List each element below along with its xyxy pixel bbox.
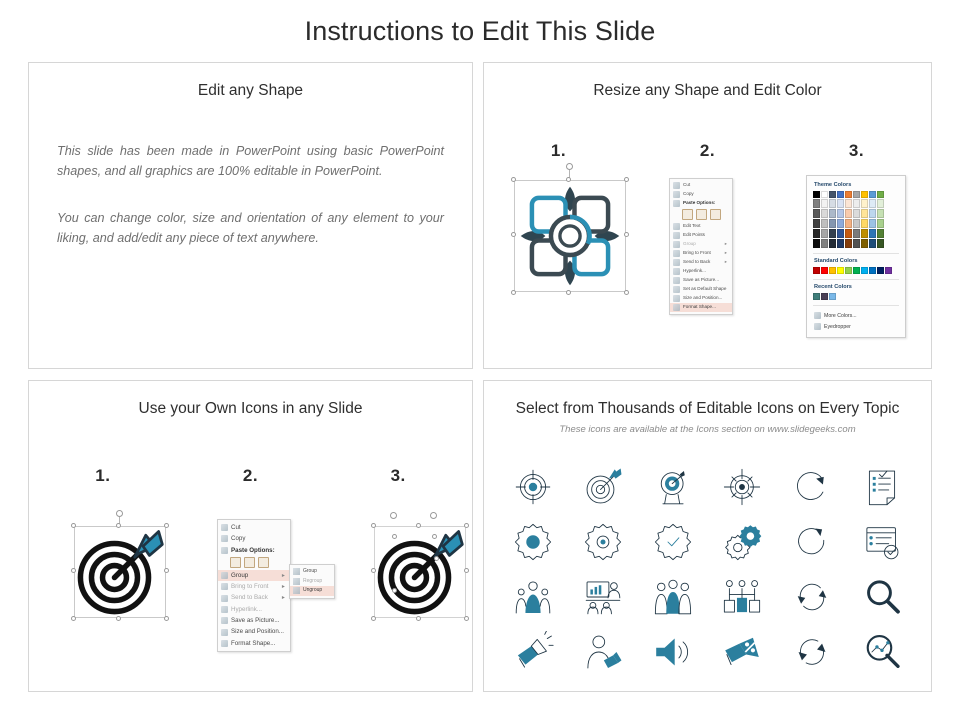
- chevron-right-icon: ▸: [276, 571, 285, 580]
- size-position-icon: [221, 629, 228, 636]
- context-menu-item-label: Send to Back: [683, 259, 710, 266]
- reload-circle-icon[interactable]: [791, 521, 833, 563]
- context-menu[interactable]: CutCopyPaste Options:Edit TextEdit Point…: [669, 178, 733, 315]
- theme-tint-row-3: [813, 229, 899, 238]
- step-resize-3: 3.: [782, 141, 931, 161]
- context-menu-item-label: Paste Options:: [231, 546, 275, 555]
- gear-outline-icon[interactable]: [582, 521, 624, 563]
- eyedropper-icon: [814, 323, 821, 330]
- color-swatch[interactable]: [861, 229, 868, 238]
- page-title: Instructions to Edit This Slide: [0, 16, 960, 47]
- gears-pair-icon[interactable]: [721, 521, 763, 563]
- context-menu-item[interactable]: Size and Position...: [670, 294, 732, 303]
- color-swatch[interactable]: [845, 191, 852, 198]
- color-swatch[interactable]: [829, 219, 836, 228]
- sync-arrows-icon[interactable]: [791, 576, 833, 618]
- color-swatch[interactable]: [869, 267, 876, 274]
- color-swatch[interactable]: [861, 239, 868, 248]
- context-menu-item[interactable]: Copy: [670, 190, 732, 199]
- step-number: 1.: [484, 141, 633, 161]
- context-menu-item[interactable]: Save as Picture...: [670, 276, 732, 285]
- icon-context-menu[interactable]: CutCopyPaste Options:Group▸Bring to Fron…: [217, 519, 291, 652]
- context-menu-item[interactable]: Copy: [218, 533, 290, 544]
- presentation-audience-icon[interactable]: [582, 576, 624, 618]
- color-swatch[interactable]: [813, 229, 820, 238]
- theme-tint-row-1: [813, 209, 899, 218]
- slide-canvas: Instructions to Edit This Slide Edit any…: [0, 0, 960, 720]
- panel-use-own-icons: Use your Own Icons in any Slide 1. 2. 3.: [28, 380, 473, 692]
- color-swatch[interactable]: [829, 191, 836, 198]
- color-swatch[interactable]: [861, 219, 868, 228]
- context-menu-item-label: Save as Picture...: [231, 616, 280, 625]
- context-menu-item-label: Bring to Front: [231, 582, 269, 591]
- panel-select-icons: Select from Thousands of Editable Icons …: [483, 380, 932, 692]
- send-back-icon: [221, 595, 228, 602]
- crosshair-scope-icon[interactable]: [721, 466, 763, 508]
- color-swatch[interactable]: [813, 219, 820, 228]
- theme-tint-row-4: [813, 239, 899, 248]
- step-icons-2: 2.: [177, 466, 325, 486]
- context-menu-item[interactable]: Cut: [670, 181, 732, 190]
- more-colors-item[interactable]: More Colors...: [813, 310, 899, 321]
- color-swatch[interactable]: [877, 199, 884, 208]
- paste-icon: [221, 547, 228, 554]
- checklist-document-icon[interactable]: [861, 466, 903, 508]
- scissors-icon: [673, 182, 680, 189]
- color-swatch[interactable]: [845, 219, 852, 228]
- color-swatch[interactable]: [869, 209, 876, 218]
- group-icon: [293, 578, 300, 585]
- color-swatch[interactable]: [877, 209, 884, 218]
- paste-keep-source-icon[interactable]: [682, 209, 693, 220]
- context-menu-item-label: Format Shape...: [683, 304, 716, 311]
- color-swatch[interactable]: [853, 239, 860, 248]
- color-swatch[interactable]: [829, 229, 836, 238]
- edit-text-icon: [673, 223, 680, 230]
- color-swatch[interactable]: [821, 239, 828, 248]
- context-menu-item-label: Send to Back: [231, 593, 268, 602]
- submenu-item-label: Regroup: [303, 578, 322, 586]
- color-swatch[interactable]: [869, 239, 876, 248]
- context-menu-item[interactable]: Edit Points: [670, 231, 732, 240]
- step-number: 3.: [324, 466, 472, 486]
- magnifier-icon[interactable]: [861, 576, 903, 618]
- color-swatch[interactable]: [845, 229, 852, 238]
- submenu-item[interactable]: Regroup: [290, 577, 334, 587]
- color-swatch[interactable]: [869, 229, 876, 238]
- context-menu-item[interactable]: Hyperlink...: [670, 267, 732, 276]
- megaphone-percent-icon[interactable]: [721, 631, 763, 673]
- theme-tint-row-2: [813, 219, 899, 228]
- paste-keep-source-icon[interactable]: [230, 557, 241, 568]
- color-swatch[interactable]: [829, 293, 836, 300]
- panel-edit-any-shape: Edit any Shape This slide has been made …: [28, 62, 473, 369]
- format-shape-icon: [221, 640, 228, 647]
- color-swatch[interactable]: [877, 219, 884, 228]
- context-menu-item-label: Copy: [231, 534, 245, 543]
- dartboard-arrow-icon: [74, 526, 166, 618]
- size-position-icon: [673, 295, 680, 302]
- context-menu-item-label: Copy: [683, 191, 694, 198]
- chevron-right-icon: ▸: [719, 250, 727, 257]
- context-menu-item-label: Save as Picture...: [683, 277, 719, 284]
- context-menu-item[interactable]: Edit Text: [670, 222, 732, 231]
- color-swatch[interactable]: [837, 239, 844, 248]
- dartboard-arrow-icon: [374, 526, 466, 618]
- color-swatch[interactable]: [853, 219, 860, 228]
- color-swatch[interactable]: [877, 267, 884, 274]
- default-shape-icon: [673, 286, 680, 293]
- panel-resize-and-color: Resize any Shape and Edit Color 1. 2. 3.: [483, 62, 932, 369]
- loudspeaker-icon[interactable]: [652, 631, 694, 673]
- context-menu-item-label: Format Shape...: [231, 639, 275, 648]
- icon-gallery-grid: [498, 459, 917, 679]
- gear-filled-icon[interactable]: [512, 521, 554, 563]
- team-group-icon[interactable]: [512, 576, 554, 618]
- context-menu-item[interactable]: Group▸: [670, 240, 732, 249]
- panel-title-resize-color: Resize any Shape and Edit Color: [484, 82, 931, 100]
- dartboard-arrow-icon[interactable]: [582, 466, 624, 508]
- color-swatch[interactable]: [861, 191, 868, 198]
- color-swatch[interactable]: [861, 267, 868, 274]
- color-picker-art[interactable]: Theme ColorsStandard ColorsRecent Colors…: [806, 175, 906, 338]
- recent-colors-label: Recent Colors: [814, 284, 899, 290]
- panel-title-select-icons: Select from Thousands of Editable Icons …: [484, 400, 931, 418]
- submenu-item-label: Group: [303, 568, 317, 576]
- copy-icon: [673, 191, 680, 198]
- color-swatch[interactable]: [813, 199, 820, 208]
- step-icons-1: 1.: [29, 466, 177, 486]
- color-swatch[interactable]: [869, 199, 876, 208]
- save-picture-icon: [673, 277, 680, 284]
- bring-front-icon: [673, 250, 680, 257]
- group-submenu[interactable]: GroupRegroupUngroup: [289, 564, 335, 599]
- edit-points-icon: [673, 232, 680, 239]
- context-menu-item[interactable]: Paste Options:: [218, 545, 290, 556]
- color-swatch[interactable]: [821, 219, 828, 228]
- context-menu-item[interactable]: Bring to Front▸: [670, 249, 732, 258]
- context-menu-item[interactable]: Save as Picture...: [218, 615, 290, 626]
- person-megaphone-icon[interactable]: [582, 631, 624, 673]
- color-swatch[interactable]: [845, 267, 852, 274]
- save-picture-icon: [221, 617, 228, 624]
- context-menu-item[interactable]: Send to Back▸: [218, 592, 290, 603]
- color-swatch[interactable]: [869, 219, 876, 228]
- color-swatch[interactable]: [829, 239, 836, 248]
- color-swatch[interactable]: [821, 191, 828, 198]
- context-menu-item-label: Cut: [683, 182, 690, 189]
- color-swatch[interactable]: [821, 199, 828, 208]
- context-menu-item-label: Edit Text: [683, 223, 701, 230]
- context-menu-item[interactable]: Hyperlink...: [218, 604, 290, 615]
- color-swatch[interactable]: [821, 229, 828, 238]
- color-swatch[interactable]: [837, 209, 844, 218]
- step-resize-1: 1.: [484, 141, 633, 161]
- step-number: 2.: [633, 141, 782, 161]
- color-swatch[interactable]: [885, 267, 892, 274]
- context-menu-item-label: Edit Points: [683, 232, 705, 239]
- hyperlink-icon: [673, 268, 680, 275]
- color-swatch[interactable]: [853, 191, 860, 198]
- panel-title-edit-shape: Edit any Shape: [29, 82, 472, 100]
- context-menu-item-label: Bring to Front: [683, 250, 711, 257]
- step-icons-3: 3.: [324, 466, 472, 486]
- color-swatch[interactable]: [845, 239, 852, 248]
- context-menu-item-label: Hyperlink...: [231, 605, 262, 614]
- shape-selection-art[interactable]: [514, 180, 626, 292]
- paste-text-icon[interactable]: [258, 557, 269, 568]
- context-menu-item[interactable]: Format Shape...: [670, 303, 732, 312]
- submenu-item[interactable]: Group: [290, 567, 334, 577]
- panel-title-own-icons: Use your Own Icons in any Slide: [29, 400, 472, 418]
- checklist-approved-icon[interactable]: [861, 521, 903, 563]
- color-swatch[interactable]: [837, 191, 844, 198]
- group-icon: [221, 572, 228, 579]
- eyedropper-item[interactable]: Eyedropper: [813, 321, 899, 332]
- color-swatch[interactable]: [813, 293, 820, 300]
- paste-picture-icon[interactable]: [244, 557, 255, 568]
- context-menu-art[interactable]: CutCopyPaste Options:Edit TextEdit Point…: [669, 178, 733, 315]
- theme-colors-label: Theme Colors: [814, 182, 899, 188]
- standard-colors-row: [813, 267, 899, 274]
- color-swatch[interactable]: [821, 209, 828, 218]
- separator: [813, 253, 899, 254]
- four-quadrant-shape-icon: [514, 180, 626, 292]
- paste-text-icon[interactable]: [710, 209, 721, 220]
- color-swatch[interactable]: [877, 229, 884, 238]
- context-menu-item[interactable]: Cut: [218, 522, 290, 533]
- icon-context-menu-art[interactable]: CutCopyPaste Options:Group▸Bring to Fron…: [217, 519, 291, 652]
- chevron-right-icon: ▸: [719, 259, 727, 266]
- chevron-right-icon: ▸: [276, 582, 285, 591]
- paste-options-row[interactable]: [670, 208, 732, 222]
- people-row-icon[interactable]: [652, 576, 694, 618]
- palette-icon: [814, 312, 821, 319]
- send-back-icon: [673, 259, 680, 266]
- step-number: 3.: [782, 141, 931, 161]
- context-menu-item-label: Hyperlink...: [683, 268, 706, 275]
- separator: [813, 305, 899, 306]
- body-paragraph-2: You can change color, size and orientati…: [57, 209, 444, 248]
- chevron-right-icon: ▸: [719, 241, 727, 248]
- bring-front-icon: [221, 583, 228, 590]
- color-swatch[interactable]: [813, 191, 820, 198]
- refresh-arrows-icon[interactable]: [791, 631, 833, 673]
- color-swatch[interactable]: [829, 267, 836, 274]
- chevron-right-icon: ▸: [276, 593, 285, 602]
- body-paragraph-1: This slide has been made in PowerPoint u…: [57, 142, 444, 181]
- context-menu-item[interactable]: Format Shape...: [218, 638, 290, 649]
- item-label: Eyedropper: [824, 324, 851, 330]
- color-swatch[interactable]: [845, 209, 852, 218]
- refresh-clockwise-icon[interactable]: [791, 466, 833, 508]
- step-number: 1.: [29, 466, 177, 486]
- color-swatch[interactable]: [837, 199, 844, 208]
- color-swatch[interactable]: [829, 209, 836, 218]
- step-number: 2.: [177, 466, 325, 486]
- color-swatch[interactable]: [869, 191, 876, 198]
- scissors-icon: [221, 524, 228, 531]
- separator: [813, 279, 899, 280]
- color-swatch[interactable]: [837, 267, 844, 274]
- context-menu-item-label: Group: [683, 241, 696, 248]
- color-swatch[interactable]: [837, 219, 844, 228]
- color-swatch[interactable]: [813, 267, 820, 274]
- group-icon: [673, 241, 680, 248]
- magnifier-analytics-icon[interactable]: [861, 631, 903, 673]
- context-menu-item-label: Size and Position...: [231, 627, 284, 636]
- context-menu-item-label: Group: [231, 571, 248, 580]
- color-swatch[interactable]: [813, 239, 820, 248]
- color-swatch[interactable]: [853, 209, 860, 218]
- context-menu-item[interactable]: Paste Options:: [670, 199, 732, 208]
- color-swatch[interactable]: [853, 229, 860, 238]
- color-swatch[interactable]: [853, 199, 860, 208]
- context-menu-item-label: Set as Default Shape: [683, 286, 726, 293]
- theme-tint-row-0: [813, 199, 899, 208]
- hyperlink-icon: [221, 606, 228, 613]
- context-menu-item-label: Cut: [231, 523, 241, 532]
- context-menu-item[interactable]: Set as Default Shape: [670, 285, 732, 294]
- megaphone-icon[interactable]: [512, 631, 554, 673]
- group-icon: [293, 568, 300, 575]
- step-resize-2: 2.: [633, 141, 782, 161]
- color-swatch[interactable]: [861, 199, 868, 208]
- paste-picture-icon[interactable]: [696, 209, 707, 220]
- color-swatch[interactable]: [821, 267, 828, 274]
- standard-colors-label: Standard Colors: [814, 258, 899, 264]
- color-swatch[interactable]: [853, 267, 860, 274]
- target-stand-icon[interactable]: [652, 466, 694, 508]
- target-selected-art[interactable]: [74, 526, 166, 618]
- submenu-item-label: Ungroup: [303, 587, 322, 595]
- color-swatch[interactable]: [877, 191, 884, 198]
- color-swatch[interactable]: [837, 229, 844, 238]
- panel-subtitle-select-icons: These icons are available at the Icons s…: [484, 424, 931, 435]
- context-menu-item[interactable]: Size and Position...: [218, 626, 290, 637]
- group-icon: [293, 587, 300, 594]
- context-menu-item-label: Paste Options:: [683, 200, 715, 207]
- context-menu-item[interactable]: Send to Back▸: [670, 258, 732, 267]
- color-swatch[interactable]: [813, 209, 820, 218]
- paste-options-row[interactable]: [218, 556, 290, 570]
- submenu-item[interactable]: Ungroup: [290, 586, 334, 596]
- color-swatch[interactable]: [845, 199, 852, 208]
- color-swatch[interactable]: [829, 199, 836, 208]
- color-swatch[interactable]: [861, 209, 868, 218]
- recent-colors-row: [813, 293, 899, 300]
- target-crosshair-icon[interactable]: [512, 466, 554, 508]
- color-picker-dropdown[interactable]: Theme ColorsStandard ColorsRecent Colors…: [806, 175, 906, 338]
- paste-icon: [673, 200, 680, 207]
- gear-check-icon[interactable]: [652, 521, 694, 563]
- format-shape-icon: [673, 304, 680, 311]
- copy-icon: [221, 535, 228, 542]
- color-swatch[interactable]: [877, 239, 884, 248]
- context-menu-item[interactable]: Group▸: [218, 570, 290, 581]
- item-label: More Colors...: [824, 313, 857, 319]
- color-swatch[interactable]: [821, 293, 828, 300]
- target-ungrouped-art[interactable]: [374, 526, 466, 618]
- org-chart-icon[interactable]: [721, 576, 763, 618]
- context-menu-item-label: Size and Position...: [683, 295, 722, 302]
- theme-colors-row: [813, 191, 899, 198]
- context-menu-item[interactable]: Bring to Front▸: [218, 581, 290, 592]
